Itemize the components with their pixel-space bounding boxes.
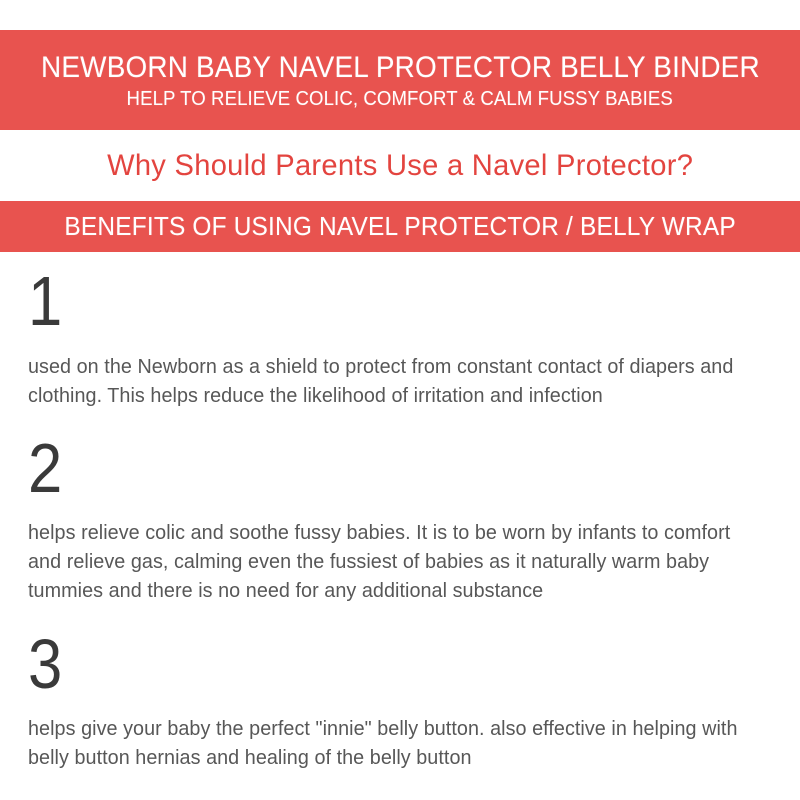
infographic-page: NEWBORN BABY NAVEL PROTECTOR BELLY BINDE…: [0, 0, 800, 800]
benefit-number: 3: [28, 629, 683, 699]
product-title: NEWBORN BABY NAVEL PROTECTOR BELLY BINDE…: [41, 52, 760, 84]
product-subtitle: HELP TO RELIEVE COLIC, COMFORT & CALM FU…: [127, 88, 673, 110]
benefits-header-text: BENEFITS OF USING NAVEL PROTECTOR / BELL…: [64, 211, 735, 242]
benefits-header-band: BENEFITS OF USING NAVEL PROTECTOR / BELL…: [0, 201, 800, 252]
benefit-number: 2: [28, 433, 683, 503]
benefit-item: 1 used on the Newborn as a shield to pro…: [0, 266, 800, 411]
benefit-item: 2 helps relieve colic and soothe fussy b…: [0, 433, 800, 606]
benefit-description: used on the Newborn as a shield to prote…: [28, 352, 746, 411]
benefits-list: 1 used on the Newborn as a shield to pro…: [0, 252, 800, 772]
benefit-description: helps relieve colic and soothe fussy bab…: [28, 518, 746, 606]
benefit-description: helps give your baby the perfect "innie"…: [28, 714, 746, 773]
title-banner: NEWBORN BABY NAVEL PROTECTOR BELLY BINDE…: [0, 30, 800, 130]
question-heading: Why Should Parents Use a Navel Protector…: [107, 149, 693, 183]
question-section: Why Should Parents Use a Navel Protector…: [0, 130, 800, 201]
benefit-number: 1: [28, 266, 683, 336]
benefit-item: 3 helps give your baby the perfect "inni…: [0, 629, 800, 773]
